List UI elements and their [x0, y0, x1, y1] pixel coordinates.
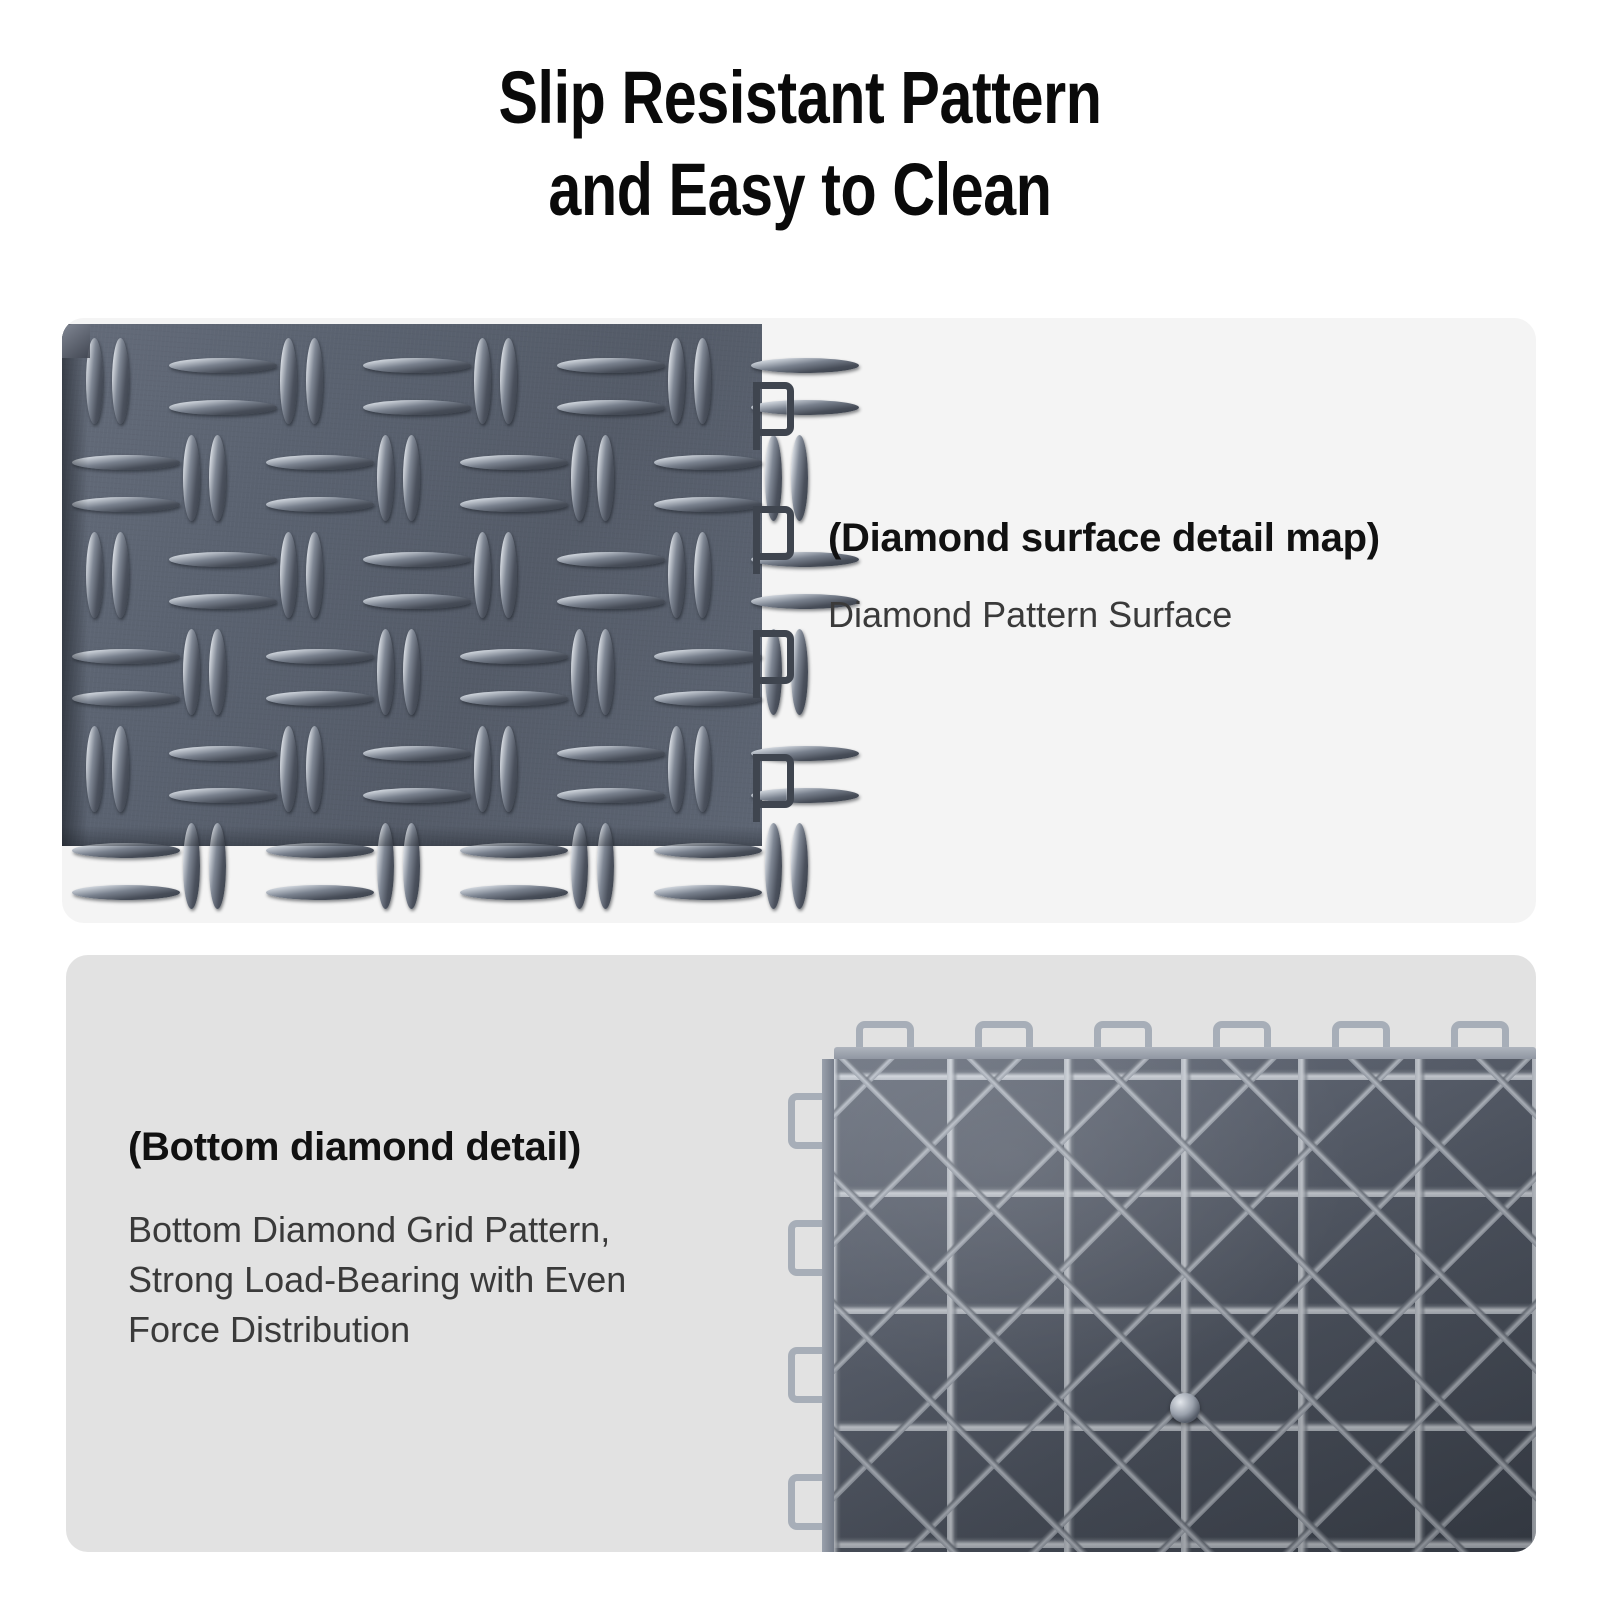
plate-ridge-horizontal [557, 400, 665, 415]
plate-ridge-vertical [500, 532, 517, 618]
plate-bottom-shadow [62, 826, 762, 846]
interlock-tab-right [760, 506, 794, 560]
plate-ridge-horizontal [557, 552, 665, 567]
plate-ridge-vertical [377, 435, 394, 521]
plate-ridge-vertical [112, 532, 129, 618]
underside-grid-body [834, 1059, 1536, 1552]
plate-ridge-vertical [474, 532, 491, 618]
plate-ridge-vertical [377, 629, 394, 715]
plate-ridge-horizontal [654, 455, 762, 470]
bottom-grid-caption-line-3: Force Distribution [128, 1305, 768, 1355]
underside-grid-ribs [834, 1059, 1536, 1552]
plate-ridge-horizontal [72, 649, 180, 664]
plate-ridge-horizontal [266, 691, 374, 706]
plate-ridge-vertical [403, 629, 420, 715]
plate-ridge-horizontal [460, 649, 568, 664]
plate-ridge-horizontal [460, 691, 568, 706]
plate-ridge-vertical [306, 532, 323, 618]
infographic-page: Slip Resistant Pattern and Easy to Clean… [0, 0, 1600, 1600]
plate-ridge-vertical [694, 532, 711, 618]
plate-ridge-vertical [306, 338, 323, 424]
plate-ridge-horizontal [363, 552, 471, 567]
plate-ridge-horizontal [654, 649, 762, 664]
bottom-grid-panel: (Bottom diamond detail) Bottom Diamond G… [66, 955, 1536, 1552]
interlock-tab-right [760, 754, 794, 808]
plate-ridge-horizontal [169, 552, 277, 567]
plate-ridge-vertical [668, 726, 685, 812]
plate-ridge-horizontal [751, 358, 859, 373]
plate-ridge-vertical [474, 338, 491, 424]
plate-ridge-vertical [306, 726, 323, 812]
plate-ridge-horizontal [72, 885, 180, 900]
plate-ridge-horizontal [266, 455, 374, 470]
plate-ridge-vertical [209, 435, 226, 521]
plate-ridge-horizontal [557, 788, 665, 803]
plate-ridge-vertical [280, 726, 297, 812]
diamond-surface-caption: Diamond Pattern Surface [828, 592, 1488, 638]
underside-center-boss [1170, 1393, 1200, 1423]
plate-ridge-vertical [403, 435, 420, 521]
bottom-grid-heading: (Bottom diamond detail) [128, 1123, 768, 1171]
plate-ridge-horizontal [266, 497, 374, 512]
bottom-grid-caption-line-2: Strong Load-Bearing with Even [128, 1255, 768, 1305]
plate-ridge-horizontal [363, 358, 471, 373]
diamond-surface-panel: (Diamond surface detail map) Diamond Pat… [62, 318, 1536, 923]
plate-ridge-horizontal [460, 455, 568, 470]
plate-ridge-vertical [209, 629, 226, 715]
tile-underside-image [800, 1017, 1536, 1552]
plate-ridge-horizontal [266, 885, 374, 900]
plate-ridge-vertical [765, 823, 782, 909]
plate-left-shadow [62, 324, 88, 846]
interlock-tab-left [788, 1474, 822, 1530]
plate-ridge-vertical [280, 532, 297, 618]
plate-ridge-vertical [597, 629, 614, 715]
diamond-surface-text: (Diamond surface detail map) Diamond Pat… [828, 514, 1488, 638]
plate-ridge-horizontal [169, 746, 277, 761]
plate-ridge-vertical [694, 338, 711, 424]
plate-ridge-horizontal [557, 746, 665, 761]
bottom-grid-text: (Bottom diamond detail) Bottom Diamond G… [128, 1123, 768, 1355]
plate-ridge-horizontal [72, 455, 180, 470]
plate-ridge-vertical [571, 435, 588, 521]
plate-ridge-vertical [183, 629, 200, 715]
plate-ridge-horizontal [654, 885, 762, 900]
plate-ridge-vertical [791, 823, 808, 909]
plate-ridge-vertical [694, 726, 711, 812]
plate-ridge-horizontal [557, 594, 665, 609]
interlock-tab-right [760, 382, 794, 436]
bottom-grid-caption-line-1: Bottom Diamond Grid Pattern, [128, 1205, 768, 1255]
plate-ridge-vertical [597, 435, 614, 521]
plate-ridge-horizontal [363, 400, 471, 415]
plate-ridge-horizontal [654, 497, 762, 512]
title-line-1: Slip Resistant Pattern [160, 52, 1440, 144]
plate-ridge-vertical [668, 532, 685, 618]
plate-ridge-horizontal [72, 691, 180, 706]
plate-ridge-horizontal [460, 885, 568, 900]
plate-ridge-vertical [791, 435, 808, 521]
page-title: Slip Resistant Pattern and Easy to Clean [0, 52, 1600, 236]
interlock-tab-left [788, 1220, 822, 1276]
plate-ridge-horizontal [266, 649, 374, 664]
diamond-surface-heading: (Diamond surface detail map) [828, 514, 1488, 562]
plate-ridge-horizontal [169, 358, 277, 373]
diamond-plate-image [62, 324, 762, 846]
plate-ridge-vertical [500, 726, 517, 812]
bottom-grid-caption: Bottom Diamond Grid Pattern, Strong Load… [128, 1205, 768, 1355]
plate-ridge-vertical [280, 338, 297, 424]
plate-corner-highlight [62, 324, 90, 358]
plate-ridge-horizontal [363, 746, 471, 761]
interlock-tab-left [788, 1093, 822, 1149]
plate-ridge-vertical [86, 726, 103, 812]
interlock-tab-left [788, 1347, 822, 1403]
plate-ridge-horizontal [460, 497, 568, 512]
plate-ridge-horizontal [169, 594, 277, 609]
plate-ridge-horizontal [169, 400, 277, 415]
plate-ridge-horizontal [654, 691, 762, 706]
interlock-tab-right [760, 630, 794, 684]
plate-ridge-horizontal [363, 788, 471, 803]
plate-ridge-vertical [500, 338, 517, 424]
plate-ridge-horizontal [557, 358, 665, 373]
plate-ridge-vertical [668, 338, 685, 424]
plate-ridge-vertical [112, 726, 129, 812]
plate-ridge-vertical [571, 629, 588, 715]
plate-ridge-vertical [474, 726, 491, 812]
plate-ridge-vertical [183, 435, 200, 521]
plate-ridge-vertical [86, 532, 103, 618]
plate-ridge-horizontal [363, 594, 471, 609]
plate-surface [62, 324, 762, 846]
title-line-2: and Easy to Clean [160, 144, 1440, 236]
plate-ridge-vertical [112, 338, 129, 424]
plate-ridge-horizontal [169, 788, 277, 803]
plate-ridge-horizontal [72, 497, 180, 512]
